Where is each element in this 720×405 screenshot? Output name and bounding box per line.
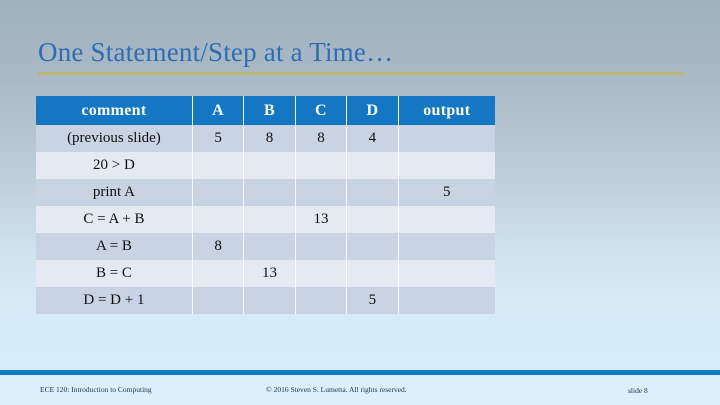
cell-c: 8	[295, 125, 346, 152]
column-header-output: output	[398, 96, 495, 125]
cell-b	[244, 206, 295, 233]
column-header-b: B	[244, 96, 295, 125]
cell-b: 8	[244, 125, 295, 152]
table-row: 20 > D	[36, 152, 495, 179]
cell-a	[192, 152, 243, 179]
cell-d	[347, 233, 398, 260]
cell-d: 5	[347, 287, 398, 314]
cell-output	[398, 125, 495, 152]
cell-d	[347, 179, 398, 206]
cell-c: 13	[295, 206, 346, 233]
cell-d: 4	[347, 125, 398, 152]
cell-c	[295, 260, 346, 287]
cell-comment: C = A + B	[36, 206, 192, 233]
cell-b	[244, 152, 295, 179]
column-header-a: A	[192, 96, 243, 125]
trace-table-container: comment A B C D output (previous slide) …	[36, 96, 495, 314]
cell-output	[398, 152, 495, 179]
cell-b	[244, 287, 295, 314]
cell-a	[192, 179, 243, 206]
cell-comment: (previous slide)	[36, 125, 192, 152]
column-header-c: C	[295, 96, 346, 125]
trace-table: comment A B C D output (previous slide) …	[36, 96, 495, 314]
cell-output	[398, 206, 495, 233]
cell-a	[192, 206, 243, 233]
cell-c	[295, 233, 346, 260]
cell-b	[244, 233, 295, 260]
cell-output	[398, 233, 495, 260]
cell-comment: print A	[36, 179, 192, 206]
cell-a: 5	[192, 125, 243, 152]
slide-canvas: One Statement/Step at a Time… comment A …	[0, 0, 720, 405]
table-body: (previous slide) 5 8 8 4 20 > D print	[36, 125, 495, 314]
cell-comment: D = D + 1	[36, 287, 192, 314]
cell-a	[192, 287, 243, 314]
table-header: comment A B C D output	[36, 96, 495, 125]
table-row: print A 5	[36, 179, 495, 206]
page-title: One Statement/Step at a Time…	[38, 36, 393, 68]
cell-a	[192, 260, 243, 287]
table-row: (previous slide) 5 8 8 4	[36, 125, 495, 152]
cell-output: 5	[398, 179, 495, 206]
cell-d	[347, 152, 398, 179]
table-row: D = D + 1 5	[36, 287, 495, 314]
cell-d	[347, 206, 398, 233]
cell-a: 8	[192, 233, 243, 260]
table-row: A = B 8	[36, 233, 495, 260]
cell-b: 13	[244, 260, 295, 287]
cell-comment: A = B	[36, 233, 192, 260]
cell-b	[244, 179, 295, 206]
cell-c	[295, 179, 346, 206]
table-row: C = A + B 13	[36, 206, 495, 233]
column-header-comment: comment	[36, 96, 192, 125]
cell-c	[295, 152, 346, 179]
cell-comment: B = C	[36, 260, 192, 287]
title-underline-rule	[38, 72, 684, 75]
cell-output	[398, 260, 495, 287]
footer-course-label: ECE 120: Introduction to Computing	[40, 385, 152, 394]
table-row: B = C 13	[36, 260, 495, 287]
cell-d	[347, 260, 398, 287]
column-header-d: D	[347, 96, 398, 125]
footer-copyright-label: © 2016 Steven S. Lumetta. All rights res…	[266, 385, 407, 394]
cell-c	[295, 287, 346, 314]
cell-output	[398, 287, 495, 314]
footer-slide-number: slide 8	[628, 386, 648, 395]
table-header-row: comment A B C D output	[36, 96, 495, 125]
cell-comment: 20 > D	[36, 152, 192, 179]
